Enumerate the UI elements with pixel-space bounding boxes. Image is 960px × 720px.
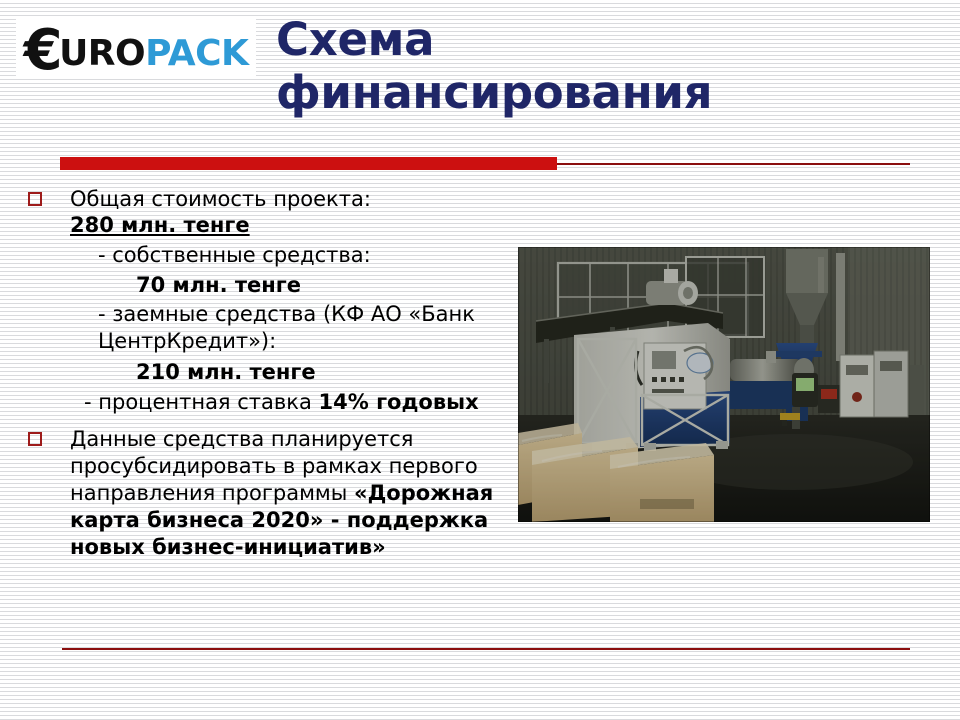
footer-divider-line	[62, 648, 910, 650]
line-subsidy-text: Данные средства планируется просубсидиро…	[70, 426, 506, 560]
interest-rate-value: 14% годовых	[319, 390, 479, 414]
production-line-photo	[518, 247, 930, 522]
presentation-slide: €UROPACK Схема финансирования Общая стои…	[0, 0, 960, 720]
slide-body: Общая стоимость проекта: 280 млн. тенге …	[28, 186, 506, 561]
line-interest-rate: - процентная ставка 14% годовых	[70, 389, 506, 416]
logo-text-black: URO	[59, 33, 145, 74]
title-line-2: финансирования	[276, 67, 916, 120]
square-bullet-icon	[28, 192, 42, 206]
title-line-1: Схема	[276, 14, 916, 67]
bullet-item-project-cost: Общая стоимость проекта: 280 млн. тенге …	[28, 186, 506, 416]
line-total-cost-label: Общая стоимость проекта:	[70, 186, 506, 213]
page-title: Схема финансирования	[276, 14, 916, 119]
line-own-funds-label: - собственные средства:	[70, 242, 506, 269]
title-divider-thick-bar	[60, 157, 557, 170]
line-total-cost-value: 280 млн. тенге	[70, 212, 506, 239]
photo-illustration	[518, 247, 930, 522]
line-own-funds-value: 70 млн. тенге	[70, 272, 506, 299]
bullet-item-subsidy-program: Данные средства планируется просубсидиро…	[28, 426, 506, 560]
line-borrowed-funds-label: - заемные средства (КФ АО «Банк ЦентрКре…	[70, 301, 506, 356]
line-borrowed-funds-value: 210 млн. тенге	[70, 359, 506, 386]
logo-text-blue: PACK	[145, 33, 248, 74]
company-logo: €UROPACK	[16, 18, 256, 76]
interest-rate-prefix: - процентная ставка	[84, 390, 319, 414]
logo-euro-symbol: €	[24, 18, 62, 76]
square-bullet-icon	[28, 432, 42, 446]
